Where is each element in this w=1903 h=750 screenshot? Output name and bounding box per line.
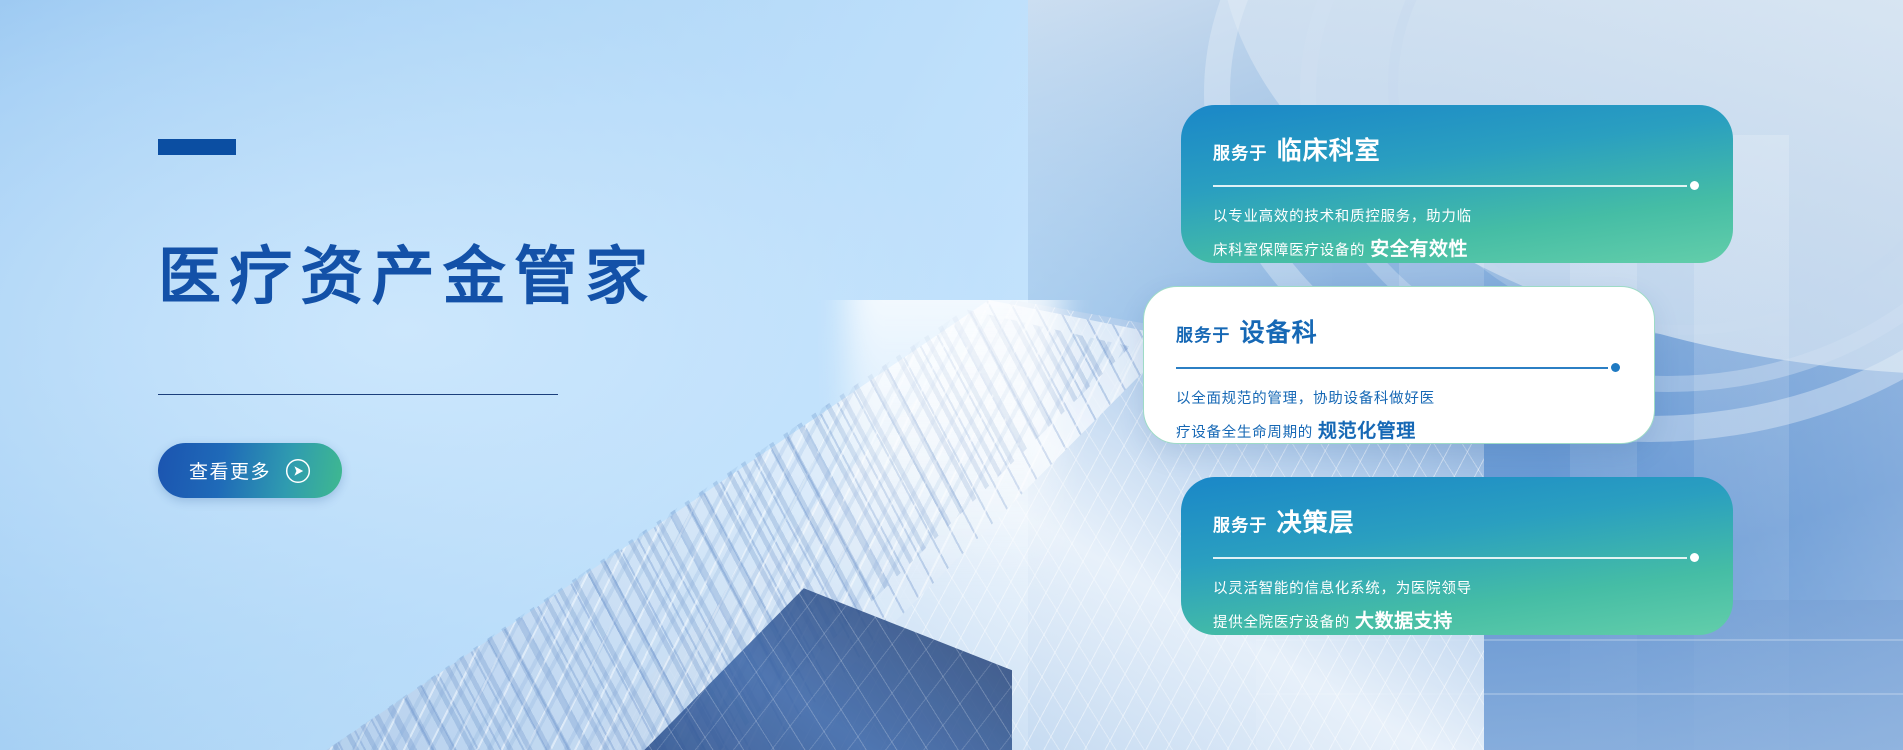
service-card-list: 服务于 临床科室 以专业高效的技术和质控服务，助力临 床科室保障医疗设备的安全有… bbox=[1143, 0, 1903, 750]
service-card-desc-line-2: 疗设备全生命周期的 bbox=[1176, 425, 1313, 441]
service-card-highlight: 大数据支持 bbox=[1350, 610, 1453, 632]
service-card-heading: 服务于 决策层 bbox=[1213, 503, 1699, 539]
rule-line bbox=[1213, 185, 1687, 187]
rule-dot-icon bbox=[1690, 553, 1699, 562]
service-card-desc-line-2: 提供全院医疗设备的 bbox=[1213, 615, 1350, 631]
service-card-desc-line-2: 床科室保障医疗设备的 bbox=[1213, 243, 1365, 259]
accent-bar bbox=[158, 139, 236, 155]
service-card-department: 设备科 bbox=[1240, 313, 1318, 349]
rule-line bbox=[1213, 557, 1687, 559]
service-card-description: 以灵活智能的信息化系统，为医院领导 提供全院医疗设备的大数据支持 bbox=[1213, 575, 1699, 640]
service-card-rule bbox=[1213, 553, 1699, 562]
service-card-heading: 服务于 设备科 bbox=[1176, 313, 1620, 349]
service-card-department: 临床科室 bbox=[1277, 131, 1381, 167]
service-card-clinical[interactable]: 服务于 临床科室 以专业高效的技术和质控服务，助力临 床科室保障医疗设备的安全有… bbox=[1181, 105, 1733, 263]
service-card-desc-line-1: 以灵活智能的信息化系统，为医院领导 bbox=[1213, 575, 1699, 603]
service-card-prefix: 服务于 bbox=[1176, 321, 1231, 346]
rule-line bbox=[1176, 367, 1608, 369]
hero-text-column: 医疗资产金管家 查看更多 bbox=[158, 0, 858, 750]
rule-dot-icon bbox=[1611, 363, 1620, 372]
service-card-highlight: 规范化管理 bbox=[1313, 420, 1416, 442]
service-card-desc-line-1: 以专业高效的技术和质控服务，助力临 bbox=[1213, 203, 1699, 231]
tower-light-glow bbox=[847, 300, 1059, 579]
service-card-prefix: 服务于 bbox=[1213, 139, 1268, 164]
view-more-button[interactable]: 查看更多 bbox=[158, 443, 342, 498]
rule-dot-icon bbox=[1690, 181, 1699, 190]
service-card-desc-line-1: 以全面规范的管理，协助设备科做好医 bbox=[1176, 385, 1620, 413]
view-more-label: 查看更多 bbox=[189, 457, 271, 484]
arrow-right-circle-icon bbox=[285, 458, 311, 484]
service-card-decision[interactable]: 服务于 决策层 以灵活智能的信息化系统，为医院领导 提供全院医疗设备的大数据支持 bbox=[1181, 477, 1733, 635]
page-title: 医疗资产金管家 bbox=[158, 243, 656, 311]
service-card-desc-line-2-wrap: 床科室保障医疗设备的安全有效性 bbox=[1213, 231, 1699, 268]
service-card-highlight: 安全有效性 bbox=[1365, 238, 1468, 260]
service-card-description: 以专业高效的技术和质控服务，助力临 床科室保障医疗设备的安全有效性 bbox=[1213, 203, 1699, 268]
title-divider bbox=[158, 394, 558, 395]
service-card-prefix: 服务于 bbox=[1213, 511, 1268, 536]
hero-banner: 医疗资产金管家 查看更多 服务于 临床科室 以专业高效的技术和质控服务，助力临 bbox=[0, 0, 1903, 750]
service-card-rule bbox=[1176, 363, 1620, 372]
service-card-desc-line-2-wrap: 提供全院医疗设备的大数据支持 bbox=[1213, 603, 1699, 640]
service-card-department: 决策层 bbox=[1277, 503, 1355, 539]
service-card-heading: 服务于 临床科室 bbox=[1213, 131, 1699, 167]
service-card-rule bbox=[1213, 181, 1699, 190]
service-card-desc-line-2-wrap: 疗设备全生命周期的规范化管理 bbox=[1176, 413, 1620, 450]
service-card-description: 以全面规范的管理，协助设备科做好医 疗设备全生命周期的规范化管理 bbox=[1176, 385, 1620, 450]
service-card-equipment[interactable]: 服务于 设备科 以全面规范的管理，协助设备科做好医 疗设备全生命周期的规范化管理 bbox=[1143, 286, 1655, 444]
